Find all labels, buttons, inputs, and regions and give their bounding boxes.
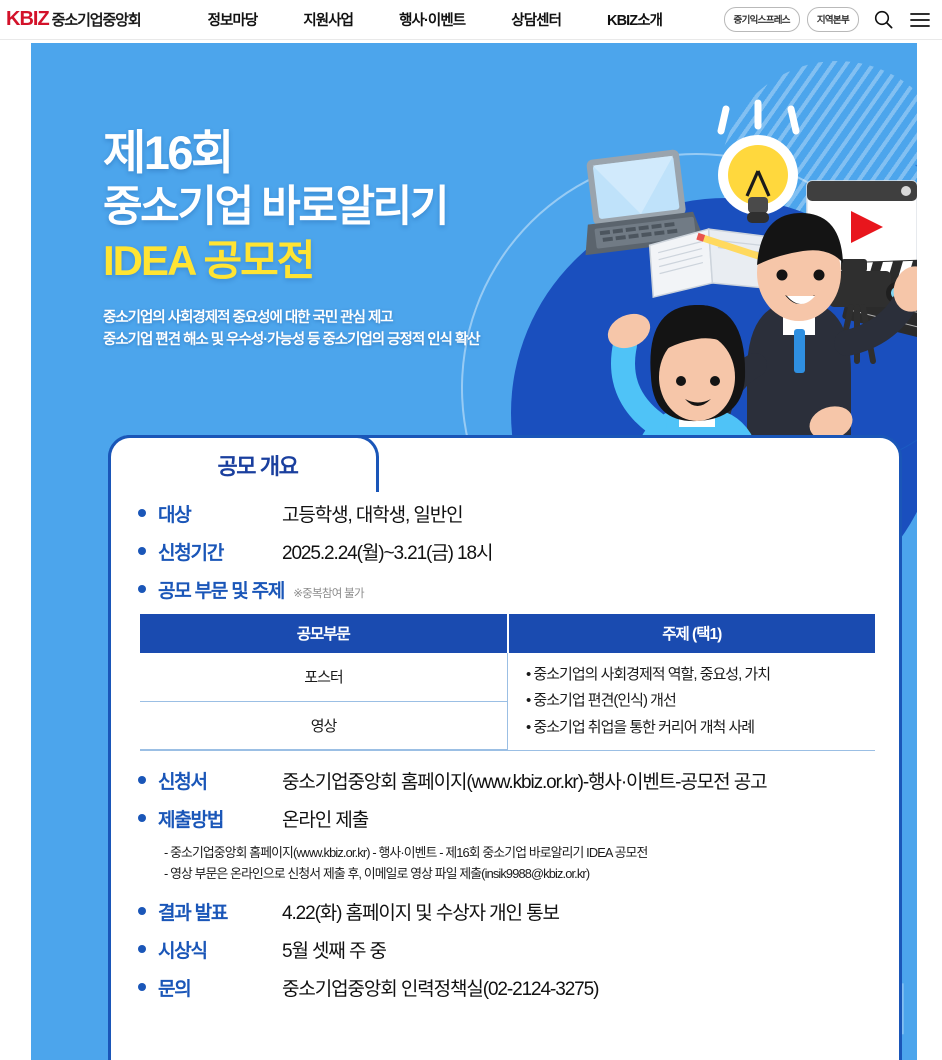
value-submission: 온라인 제출 [282, 805, 368, 832]
site-header: KBIZ 중소기업중앙회 정보마당 지원사업 행사·이벤트 상담센터 KBIZ소… [0, 0, 942, 40]
value-target: 고등학생, 대학생, 일반인 [282, 500, 463, 527]
banner-title-line3: IDEA 공모전 [103, 236, 623, 286]
banner-title-line1: 제16회 [103, 127, 623, 180]
categories-table: 공모부문 주제 (택1) 포스터 • 중소기업의 사회경제적 역할, 중요성, … [140, 614, 875, 750]
topic-line-2: • 중소기업 편견(인식) 개선 [526, 688, 875, 714]
submission-note-1: - 중소기업중앙회 홈페이지(www.kbiz.or.kr) - 행사·이벤트 … [164, 843, 872, 864]
table-row: 포스터 • 중소기업의 사회경제적 역할, 중요성, 가치 • 중소기업 편견(… [140, 653, 875, 701]
bullet-icon [138, 585, 146, 593]
bullet-icon [138, 907, 146, 915]
pill-regional-hq[interactable]: 지역본부 [807, 7, 859, 32]
pill-express[interactable]: 중기익스프레스 [724, 7, 800, 32]
card-tab-title: 공모 개요 [189, 449, 297, 481]
value-period: 2025.2.24(월)~3.21(금) 18시 [282, 538, 492, 565]
topic-line-1: • 중소기업의 사회경제적 역할, 중요성, 가치 [526, 662, 875, 688]
label-target: 대상 [158, 500, 282, 527]
banner-title-block: 제16회 중소기업 바로알리기 IDEA 공모전 중소기업의 사회경제적 중요성… [103, 127, 623, 352]
banner-subtitle-line2: 중소기업 편견 해소 및 우수성·가능성 등 중소기업의 긍정적 인식 확산 [103, 329, 623, 351]
table-bottom-divider [140, 750, 875, 751]
search-icon[interactable] [870, 7, 896, 33]
bullet-icon [138, 814, 146, 822]
info-row-target: 대상 고등학생, 대학생, 일반인 [138, 500, 872, 527]
table-header-row: 공모부문 주제 (택1) [140, 614, 875, 653]
header-actions: 중기익스프레스 지역본부 [717, 7, 933, 33]
value-contact: 중소기업중앙회 인력정책실(02-2124-3275) [282, 974, 598, 1001]
card-body: 대상 고등학생, 대학생, 일반인 신청기간 2025.2.24(월)~3.21… [111, 500, 899, 1012]
cell-topics: • 중소기업의 사회경제적 역할, 중요성, 가치 • 중소기업 편견(인식) … [508, 653, 876, 750]
info-row-period: 신청기간 2025.2.24(월)~3.21(금) 18시 [138, 538, 872, 565]
banner-title-idea: IDEA [103, 237, 194, 284]
label-contact: 문의 [158, 974, 282, 1001]
value-application: 중소기업중앙회 홈페이지(www.kbiz.or.kr)-행사·이벤트-공모전 … [282, 767, 767, 794]
bullet-icon [138, 983, 146, 991]
hamburger-menu-icon[interactable] [907, 7, 933, 33]
banner-subtitle-line1: 중소기업의 사회경제적 중요성에 대한 국민 관심 제고 [103, 307, 623, 329]
note-no-duplicate: ※중복참여 불가 [293, 585, 364, 601]
label-application: 신청서 [158, 767, 282, 794]
bullet-icon [138, 776, 146, 784]
value-results: 4.22(화) 홈페이지 및 수상자 개인 통보 [282, 898, 559, 925]
nav-item-about-kbiz[interactable]: KBIZ소개 [584, 9, 685, 30]
nav-item-events[interactable]: 행사·이벤트 [376, 9, 488, 30]
label-results: 결과 발표 [158, 898, 282, 925]
nav-item-information[interactable]: 정보마당 [185, 9, 281, 30]
label-period: 신청기간 [158, 538, 282, 565]
info-row-results: 결과 발표 4.22(화) 홈페이지 및 수상자 개인 통보 [138, 898, 872, 925]
banner-subtitle: 중소기업의 사회경제적 중요성에 대한 국민 관심 제고 중소기업 편견 해소 … [103, 307, 623, 352]
brand-kbiz-text: KBIZ [6, 8, 49, 31]
value-ceremony: 5월 셋째 주 중 [282, 936, 386, 963]
banner-title-line2: 중소기업 바로알리기 [103, 182, 623, 233]
info-row-application: 신청서 중소기업중앙회 홈페이지(www.kbiz.or.kr)-행사·이벤트-… [138, 767, 872, 794]
main-navigation: 정보마당 지원사업 행사·이벤트 상담센터 KBIZ소개 [185, 9, 686, 30]
brand-logo[interactable]: KBIZ 중소기업중앙회 [6, 8, 141, 31]
card-tab-header: 공모 개요 [108, 435, 379, 492]
submission-notes: - 중소기업중앙회 홈페이지(www.kbiz.or.kr) - 행사·이벤트 … [164, 843, 872, 884]
info-row-categories: 공모 부문 및 주제 ※중복참여 불가 [138, 576, 872, 603]
label-ceremony: 시상식 [158, 936, 282, 963]
bullet-icon [138, 509, 146, 517]
info-row-contact: 문의 중소기업중앙회 인력정책실(02-2124-3275) [138, 974, 872, 1001]
info-row-submission: 제출방법 온라인 제출 [138, 805, 872, 832]
banner-title-gongmo: 공모전 [203, 237, 313, 284]
brand-korean-text: 중소기업중앙회 [52, 9, 141, 30]
label-submission: 제출방법 [158, 805, 282, 832]
label-categories: 공모 부문 및 주제 [158, 576, 284, 603]
contest-overview-card: 공모 개요 대상 고등학생, 대학생, 일반인 신청기간 2025.2.24(월… [108, 435, 902, 1060]
promo-banner: 제16회 중소기업 바로알리기 IDEA 공모전 중소기업의 사회경제적 중요성… [31, 43, 917, 1060]
nav-item-counseling[interactable]: 상담센터 [488, 9, 584, 30]
cell-part-poster: 포스터 [140, 653, 508, 701]
topic-line-3: • 중소기업 취업을 통한 커리어 개척 사례 [526, 715, 875, 741]
table-header-topic: 주제 (택1) [508, 614, 876, 653]
cell-part-video: 영상 [140, 701, 508, 750]
bullet-icon [138, 547, 146, 555]
submission-note-2: - 영상 부문은 온라인으로 신청서 제출 후, 이메일로 영상 파일 제출(i… [164, 864, 872, 885]
bullet-icon [138, 945, 146, 953]
nav-item-support[interactable]: 지원사업 [280, 9, 376, 30]
info-row-ceremony: 시상식 5월 셋째 주 중 [138, 936, 872, 963]
table-header-part: 공모부문 [140, 614, 508, 653]
